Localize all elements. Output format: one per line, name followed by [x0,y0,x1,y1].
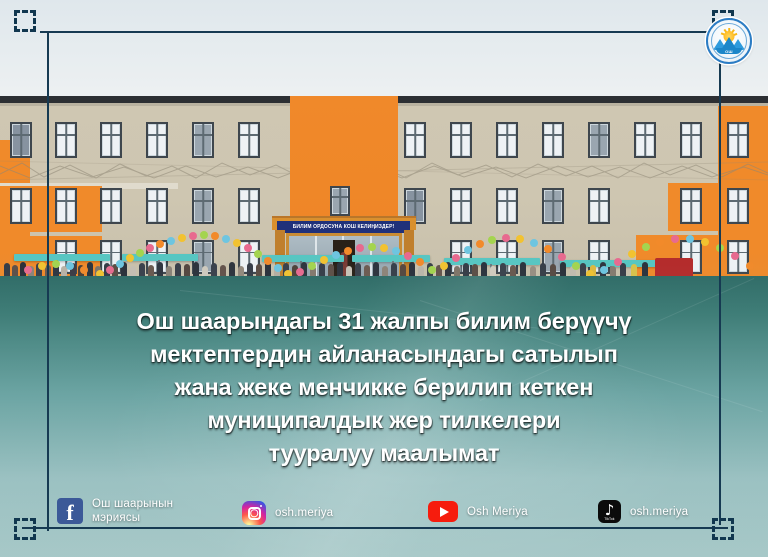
social-link-facebook[interactable]: f Ош шаарынын мэриясы [57,497,173,525]
instagram-icon[interactable] [242,501,266,525]
headline-line-4: муниципалдык жер тилкелери [42,404,726,437]
frame-line-top [40,31,746,33]
building-window [542,122,564,158]
instagram-label: osh.meriya [275,506,333,520]
building-window [680,122,702,158]
logo-inner-ring: ОШ [711,23,747,59]
headline-text-block: Ош шаарындагы 31 жалпы билим берүүчү мек… [0,305,768,470]
photo-background: БИЛИМ ОРДОСУНА КОШ КЕЛИҢИЗДЕР! [0,0,768,557]
building-window [238,122,260,158]
facebook-label-line2: мэриясы [92,511,173,525]
headline-line-3: жана жеке менчикке берилип кеткен [42,371,726,404]
social-link-tiktok[interactable]: ♪ TikTok osh.meriya [598,500,688,523]
building-window [404,122,426,158]
social-link-instagram[interactable]: osh.meriya [242,501,333,525]
building-window [450,122,472,158]
headline-line-1: Ош шаарындагы 31 жалпы билим берүүчү [42,305,726,338]
balloon-garland [0,200,768,280]
facebook-label: Ош шаарынын мэриясы [92,497,173,525]
building-window [55,122,77,158]
building-window [192,122,214,158]
social-link-youtube[interactable]: Osh Meriya [428,501,528,522]
headline-line-2: мектептердин айланасындагы сатылып [42,338,726,371]
facebook-icon[interactable]: f [57,498,83,524]
building-window [10,122,32,158]
youtube-label: Osh Meriya [467,505,528,519]
logo-caption: ОШ [725,49,733,54]
social-links-bar: f Ош шаарынын мэриясы osh.meriya Osh Mer… [0,495,768,535]
building-window [588,122,610,158]
youtube-icon[interactable] [428,501,458,522]
building-window [146,122,168,158]
building-window [727,122,749,158]
headline-line-5: тууралуу маалымат [42,437,726,470]
tiktok-icon[interactable]: ♪ TikTok [598,500,621,523]
building-window [100,122,122,158]
osh-mayor-logo: ОШ [706,18,752,64]
corner-dots-top-left [14,10,36,32]
tiktok-label: osh.meriya [630,505,688,519]
facebook-label-line1: Ош шаарынын [92,497,173,511]
building-window [496,122,518,158]
sky [0,0,768,106]
poster-canvas: БИЛИМ ОРДОСУНА КОШ КЕЛИҢИЗДЕР! [0,0,768,557]
tiktok-badge-text: TikTok [604,517,614,522]
building-window [634,122,656,158]
